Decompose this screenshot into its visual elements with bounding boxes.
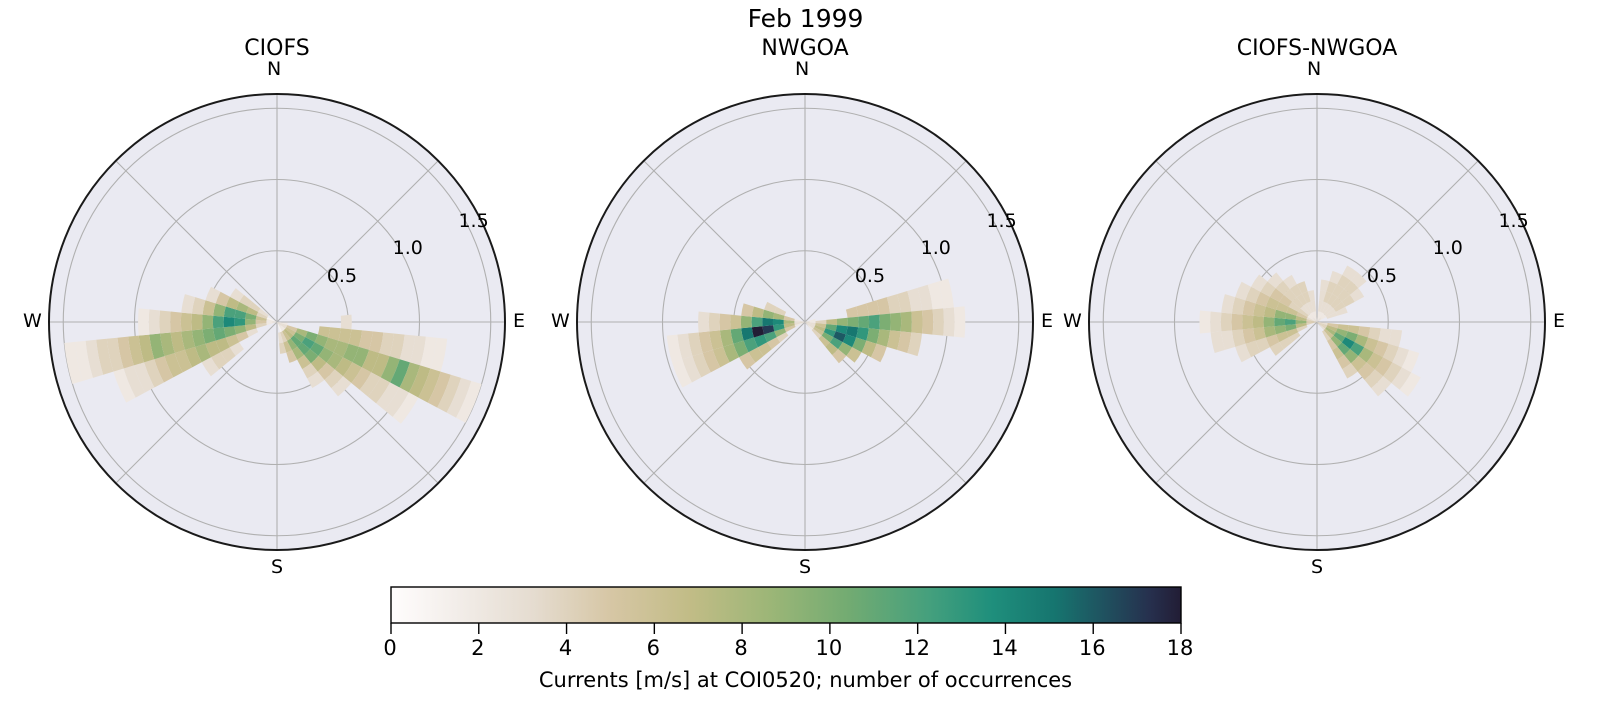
colorbar-tick-label: 2 (453, 636, 503, 660)
histogram-cell (1221, 313, 1232, 332)
radial-tick-label: 1.5 (986, 210, 1016, 232)
histogram-cell (159, 310, 170, 333)
compass-label-s: S (1311, 556, 1323, 578)
radial-tick-label: 1.0 (1433, 237, 1463, 259)
histogram-cell (224, 317, 235, 327)
histogram-cell (762, 318, 773, 326)
histogram-cell (191, 314, 202, 331)
colorbar (390, 586, 1182, 636)
histogram-cell (826, 319, 837, 325)
histogram-cell (911, 310, 922, 333)
histogram-cell (1285, 319, 1296, 325)
histogram-cell (752, 317, 763, 327)
histogram-cell (933, 308, 944, 335)
compass-label-w: W (23, 310, 42, 332)
colorbar-tick-label: 6 (628, 636, 678, 660)
histogram-cell (202, 315, 213, 330)
polar-plot-ciofs (39, 84, 515, 560)
radial-tick-label: 0.5 (855, 265, 885, 287)
histogram-cell (858, 316, 869, 329)
histogram-cell (773, 319, 784, 325)
polar-plot-ciofs_nwgoa (1079, 84, 1555, 560)
histogram-cell (1231, 314, 1242, 331)
histogram-cell (741, 316, 752, 329)
histogram-cell (181, 313, 192, 332)
compass-label-n: N (795, 58, 809, 80)
compass-label-e: E (513, 310, 525, 332)
histogram-cell (234, 318, 245, 326)
histogram-cell (922, 309, 933, 334)
histogram-cell (848, 317, 859, 327)
compass-label-n: N (267, 58, 281, 80)
colorbar-caption: Currents [m/s] at COI0520; number of occ… (0, 668, 1611, 693)
radial-tick-label: 1.5 (458, 210, 488, 232)
histogram-cell (1242, 315, 1253, 330)
radial-tick-label: 0.5 (327, 265, 357, 287)
figure-root: Feb 1999 CIOFSNSEW0.51.01.5NWGOANSEW0.51… (0, 0, 1611, 724)
compass-label-n: N (1307, 58, 1321, 80)
histogram-cell (213, 316, 224, 329)
histogram-cell (1210, 312, 1221, 333)
histogram-cell (1253, 316, 1264, 329)
histogram-cell (943, 307, 954, 336)
histogram-cell (901, 312, 912, 333)
compass-label-s: S (271, 556, 283, 578)
compass-label-w: W (551, 310, 570, 332)
colorbar-tick-label: 18 (1155, 636, 1205, 660)
colorbar-gradient (391, 587, 1181, 623)
colorbar-tick-label: 12 (892, 636, 942, 660)
histogram-cell (170, 312, 181, 333)
histogram-cell (1264, 317, 1275, 327)
radial-tick-label: 0.5 (1367, 265, 1397, 287)
histogram-cell (719, 314, 730, 331)
histogram-cell (1274, 318, 1285, 326)
colorbar-tick-label: 0 (365, 636, 415, 660)
compass-label-e: E (1553, 310, 1565, 332)
histogram-cell (879, 314, 890, 331)
colorbar-tick-label: 8 (716, 636, 766, 660)
histogram-cell (1199, 310, 1210, 333)
histogram-cell (869, 315, 880, 330)
colorbar-tick-label: 14 (979, 636, 1029, 660)
histogram-cell (890, 313, 901, 332)
compass-label-e: E (1041, 310, 1053, 332)
figure-suptitle: Feb 1999 (0, 4, 1611, 34)
histogram-cell (138, 308, 149, 335)
histogram-cell (149, 309, 160, 334)
histogram-cell (341, 315, 352, 330)
compass-label-s: S (799, 556, 811, 578)
colorbar-tick-label: 10 (804, 636, 854, 660)
colorbar-tick-label: 4 (541, 636, 591, 660)
radial-tick-label: 1.0 (921, 237, 951, 259)
radial-tick-label: 1.0 (393, 237, 423, 259)
histogram-cell (954, 306, 965, 337)
radial-tick-label: 1.5 (1498, 210, 1528, 232)
histogram-cell (837, 318, 848, 326)
polar-plot-nwgoa (567, 84, 1043, 560)
compass-label-w: W (1063, 310, 1082, 332)
colorbar-tick-label: 16 (1067, 636, 1117, 660)
histogram-cell (245, 319, 256, 325)
histogram-cell (698, 312, 709, 333)
histogram-cell (730, 315, 741, 330)
histogram-cell (709, 313, 720, 332)
